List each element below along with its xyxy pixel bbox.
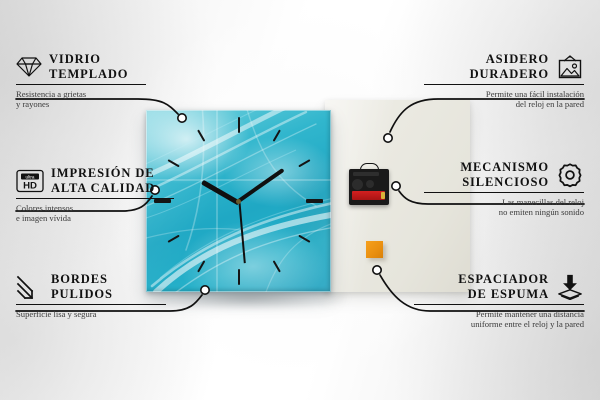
feature-divider bbox=[16, 304, 166, 305]
feature-title: MECANISMO SILENCIOSO bbox=[460, 160, 549, 189]
feature-bordes-pulidos: BORDES PULIDOS Superficie lisa y segura bbox=[16, 272, 176, 319]
gear-icon bbox=[556, 162, 584, 188]
connector-endpoint-left-top bbox=[178, 114, 186, 122]
feature-subtitle: Permite una fácil instalación del reloj … bbox=[424, 89, 584, 110]
polished-edges-icon bbox=[16, 275, 44, 299]
connector-endpoint-right-middle bbox=[392, 182, 400, 190]
feature-subtitle: Permite mantener una distancia uniforme … bbox=[414, 309, 584, 330]
hd-label: HD bbox=[23, 180, 37, 191]
feature-divider bbox=[16, 198, 174, 199]
feature-divider bbox=[424, 192, 584, 193]
feature-title: ESPACIADOR DE ESPUMA bbox=[458, 272, 549, 301]
feature-header: ultra HD IMPRESIÓN DE ALTA CALIDAD bbox=[16, 166, 186, 195]
feature-title: ASIDERO DURADERO bbox=[470, 52, 549, 81]
feature-header: MECANISMO SILENCIOSO bbox=[424, 160, 584, 189]
feature-header: ASIDERO DURADERO bbox=[424, 52, 584, 81]
feature-impresion-alta-calidad: ultra HD IMPRESIÓN DE ALTA CALIDAD Color… bbox=[16, 166, 186, 224]
foam-spacer-arrow-icon bbox=[556, 274, 584, 300]
connector-endpoint-right-bottom bbox=[373, 266, 381, 274]
feature-subtitle: Las manecillas del reloj no emiten ningú… bbox=[424, 197, 584, 218]
connector-endpoint-left-bottom bbox=[201, 286, 209, 294]
feature-header: BORDES PULIDOS bbox=[16, 272, 176, 301]
infographic-stage: VIDRIO TEMPLADO Resistencia a grietas y … bbox=[0, 0, 600, 400]
connector-endpoint-right-top bbox=[384, 134, 392, 142]
feature-title: VIDRIO TEMPLADO bbox=[49, 52, 128, 81]
diamond-icon bbox=[16, 56, 42, 78]
feature-asidero-duradero: ASIDERO DURADERO Permite una fácil insta… bbox=[424, 52, 584, 110]
feature-espaciador-de-espuma: ESPACIADOR DE ESPUMA Permite mantener un… bbox=[414, 272, 584, 330]
feature-mecanismo-silencioso: MECANISMO SILENCIOSO Las manecillas del … bbox=[424, 160, 584, 218]
wall-hanger-frame-icon bbox=[556, 55, 584, 79]
feature-divider bbox=[414, 304, 584, 305]
feature-header: ESPACIADOR DE ESPUMA bbox=[414, 272, 584, 301]
feature-header: VIDRIO TEMPLADO bbox=[16, 52, 176, 81]
feature-subtitle: Resistencia a grietas y rayones bbox=[16, 89, 176, 110]
feature-title: BORDES PULIDOS bbox=[51, 272, 113, 301]
feature-subtitle: Superficie lisa y segura bbox=[16, 309, 176, 320]
ultra-hd-badge-icon: ultra HD bbox=[16, 169, 44, 193]
feature-divider bbox=[16, 84, 146, 85]
feature-vidrio-templado: VIDRIO TEMPLADO Resistencia a grietas y … bbox=[16, 52, 176, 110]
ultra-label: ultra bbox=[26, 174, 35, 179]
feature-subtitle: Colores intensos e imagen vívida bbox=[16, 203, 186, 224]
feature-title: IMPRESIÓN DE ALTA CALIDAD bbox=[51, 166, 155, 195]
feature-divider bbox=[424, 84, 584, 85]
